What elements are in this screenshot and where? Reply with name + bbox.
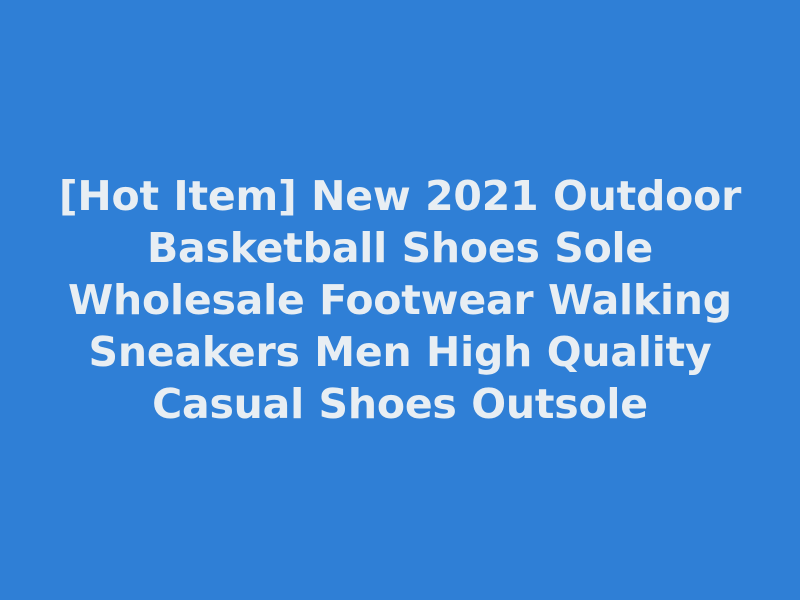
product-title-card: [Hot Item] New 2021 Outdoor Basketball S… — [0, 0, 800, 600]
page-title: [Hot Item] New 2021 Outdoor Basketball S… — [50, 170, 750, 430]
title-block: [Hot Item] New 2021 Outdoor Basketball S… — [40, 170, 760, 430]
